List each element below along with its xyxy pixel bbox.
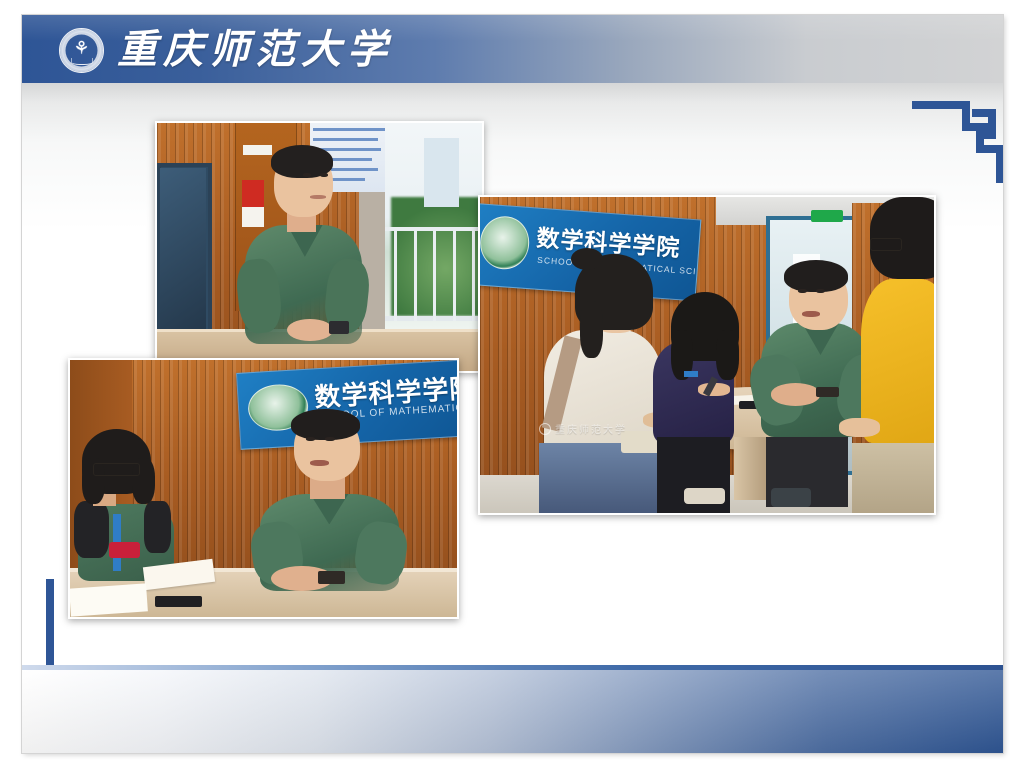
footer-gradient-band (22, 670, 1003, 753)
photo-interviewee-portrait (155, 121, 484, 373)
decorative-corner-top-right (912, 101, 1003, 183)
slide-canvas: 数学科学学院 SCHOOL OF MATHEMATICAL (22, 83, 1003, 753)
university-name-title: 重庆师范大学 (117, 23, 393, 77)
university-logo-icon: ⚘ (59, 28, 104, 73)
logo-book-shape (71, 58, 93, 65)
logo-glyph: ⚘ (73, 40, 89, 58)
slide-footer (22, 665, 1003, 753)
presentation-slide: ⚘ 重庆师范大学 (22, 15, 1003, 753)
photo-watermark: 重庆师范大学 (539, 421, 627, 436)
photo-group-interview-roundtable: 数学科学学院 SCHOOL OF MATHEMATICAL SCIENCES (478, 195, 936, 515)
slide-header-band: ⚘ 重庆师范大学 (22, 15, 1003, 83)
watermark-seal-icon (539, 423, 551, 435)
